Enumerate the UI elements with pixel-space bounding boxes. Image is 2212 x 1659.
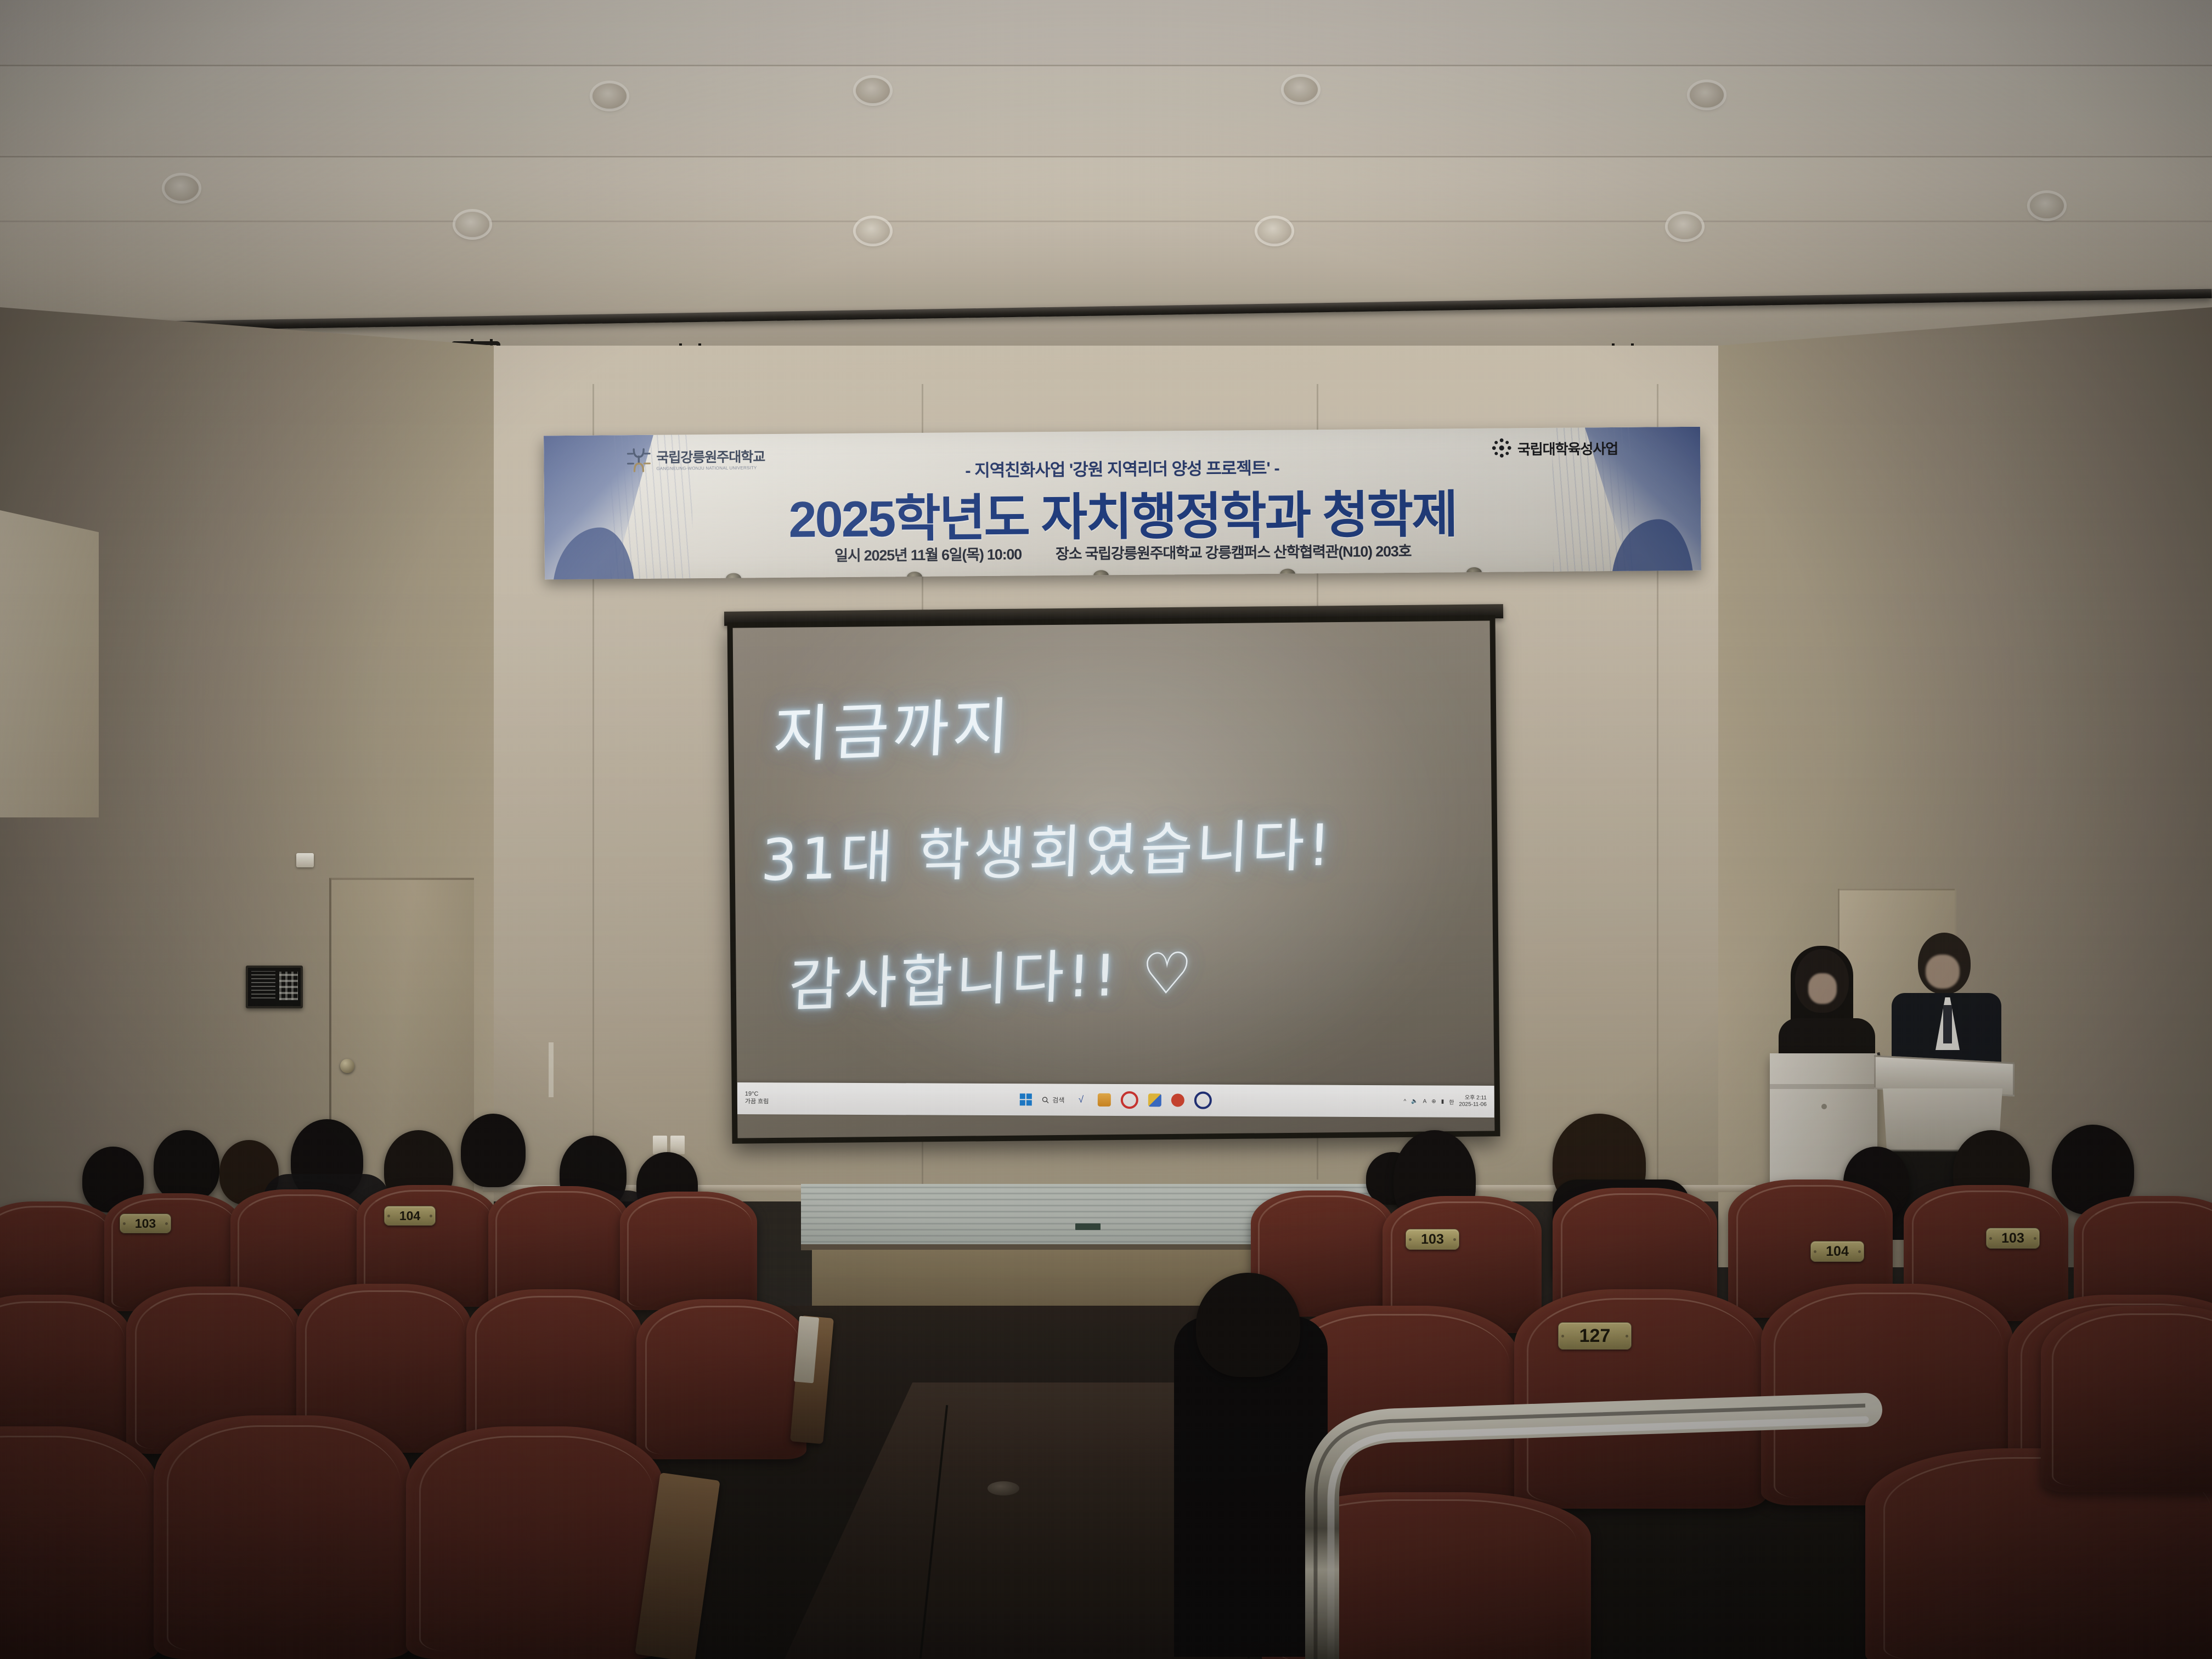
seat-number: 103 bbox=[2001, 1231, 2024, 1246]
downlight-icon bbox=[856, 218, 890, 244]
app-icon-explorer[interactable] bbox=[1097, 1093, 1110, 1107]
taskbar-tray[interactable]: ^ 🔈 A ⊕ ▮ 한 오후 2:11 2025-11-06 bbox=[1403, 1094, 1486, 1109]
left-soffit bbox=[0, 510, 99, 817]
downlight-icon bbox=[592, 83, 627, 109]
audience-head bbox=[154, 1130, 219, 1201]
start-icon[interactable] bbox=[1020, 1093, 1032, 1105]
windows-taskbar[interactable]: 19°C 가끔 흐림 검색 √ ^ bbox=[737, 1082, 1494, 1118]
seat[interactable] bbox=[620, 1192, 757, 1310]
app-icon-alert[interactable] bbox=[1171, 1093, 1184, 1107]
slide-line-2: 31대 학생회였습니다! bbox=[759, 798, 1336, 896]
seat-number-plate: 104 bbox=[384, 1206, 436, 1226]
downlight-icon bbox=[1257, 218, 1291, 244]
banner-datetime: 일시 2025년 11월 6일(목) 10:00 bbox=[834, 542, 1022, 565]
app-icon-opera[interactable] bbox=[1120, 1091, 1138, 1109]
tray-ime-icon[interactable]: A bbox=[1423, 1098, 1427, 1104]
seat[interactable] bbox=[154, 1415, 411, 1659]
search-label: 검색 bbox=[1052, 1095, 1064, 1104]
tray-chevron-up-icon[interactable]: ^ bbox=[1403, 1098, 1406, 1104]
seat-number: 127 bbox=[1579, 1325, 1611, 1347]
presenter-face bbox=[1926, 955, 1960, 989]
clock-date: 2025-11-06 bbox=[1459, 1102, 1486, 1109]
seat[interactable] bbox=[2041, 1306, 2212, 1492]
seat-number: 103 bbox=[1421, 1232, 1444, 1248]
wall-outlet-icon bbox=[653, 1136, 667, 1154]
projection-screen: 지금까지 31대 학생회였습니다! 감사합니다!! ♡ 19°C 가끔 흐림 검… bbox=[733, 620, 1495, 1138]
tray-ime-label[interactable]: 한 bbox=[1449, 1097, 1454, 1105]
downlight-icon bbox=[1690, 82, 1724, 108]
seat-number-plate: 104 bbox=[1810, 1241, 1864, 1262]
seat-number-plate: 127 bbox=[1558, 1322, 1632, 1350]
event-banner: 국립강릉원주대학교 GANGNEUNG-WONJU NATIONAL UNIVE… bbox=[544, 427, 1701, 580]
taskbar-search[interactable]: 검색 bbox=[1042, 1095, 1064, 1104]
floor-access-plate bbox=[988, 1481, 1019, 1496]
tray-network-icon[interactable]: ⊕ bbox=[1431, 1098, 1436, 1104]
taskbar-clock[interactable]: 오후 2:11 2025-11-06 bbox=[1459, 1094, 1487, 1108]
seat-number-plate: 103 bbox=[120, 1214, 171, 1233]
tray-volume-icon[interactable]: 🔈 bbox=[1411, 1098, 1418, 1104]
banner-location: 장소 국립강릉원주대학교 강릉캠퍼스 산학협력관(N10) 203호 bbox=[1056, 539, 1412, 563]
app-icon-math[interactable]: √ bbox=[1074, 1093, 1087, 1107]
seat[interactable] bbox=[406, 1426, 664, 1659]
presenter-face bbox=[1808, 973, 1837, 1004]
app-icon-office[interactable] bbox=[1194, 1092, 1211, 1109]
downlight-icon bbox=[2030, 193, 2064, 218]
slide-line-3: 감사합니다!! ♡ bbox=[787, 926, 1197, 1022]
control-panel-keypad[interactable] bbox=[279, 972, 298, 1000]
seat[interactable] bbox=[636, 1299, 806, 1459]
presenter-tie bbox=[1943, 1005, 1952, 1043]
motion-sensor-icon bbox=[296, 853, 314, 867]
downlight-icon bbox=[1284, 77, 1318, 102]
seat-number: 104 bbox=[1826, 1244, 1849, 1260]
downlight-icon bbox=[165, 176, 199, 201]
seat-number: 104 bbox=[399, 1209, 420, 1223]
auditorium-photo: 국립강릉원주대학교 GANGNEUNG-WONJU NATIONAL UNIVE… bbox=[0, 0, 2212, 1659]
seat-number-plate: 103 bbox=[1406, 1229, 1459, 1250]
slide-line-1: 지금까지 bbox=[771, 676, 1014, 775]
cabinet-latch-icon[interactable] bbox=[1821, 1104, 1827, 1109]
projection-screen-frame: 지금까지 31대 학생회였습니다! 감사합니다!! ♡ 19°C 가끔 흐림 검… bbox=[727, 615, 1500, 1143]
aisle-handrail bbox=[1306, 1393, 1865, 1659]
app-icon-notes[interactable] bbox=[1148, 1093, 1161, 1107]
door-handle-icon[interactable] bbox=[340, 1059, 354, 1073]
seat-number-plate: 103 bbox=[1986, 1228, 2040, 1249]
control-panel-display bbox=[251, 971, 275, 998]
downlight-icon bbox=[1668, 214, 1702, 239]
seat-number: 103 bbox=[135, 1216, 156, 1231]
downlight-icon bbox=[856, 78, 890, 103]
av-control-panel[interactable] bbox=[246, 966, 303, 1008]
stage-floor-marker bbox=[1075, 1223, 1101, 1230]
audience-head bbox=[1196, 1273, 1300, 1377]
tray-battery-icon[interactable]: ▮ bbox=[1441, 1098, 1444, 1104]
search-icon bbox=[1042, 1096, 1049, 1103]
audience-head bbox=[461, 1114, 526, 1187]
wall-outlet-icon bbox=[670, 1136, 685, 1154]
seat[interactable] bbox=[0, 1426, 159, 1659]
downlight-icon bbox=[455, 212, 489, 237]
door-edge bbox=[549, 1042, 554, 1097]
clock-time: 오후 2:11 bbox=[1459, 1094, 1486, 1102]
